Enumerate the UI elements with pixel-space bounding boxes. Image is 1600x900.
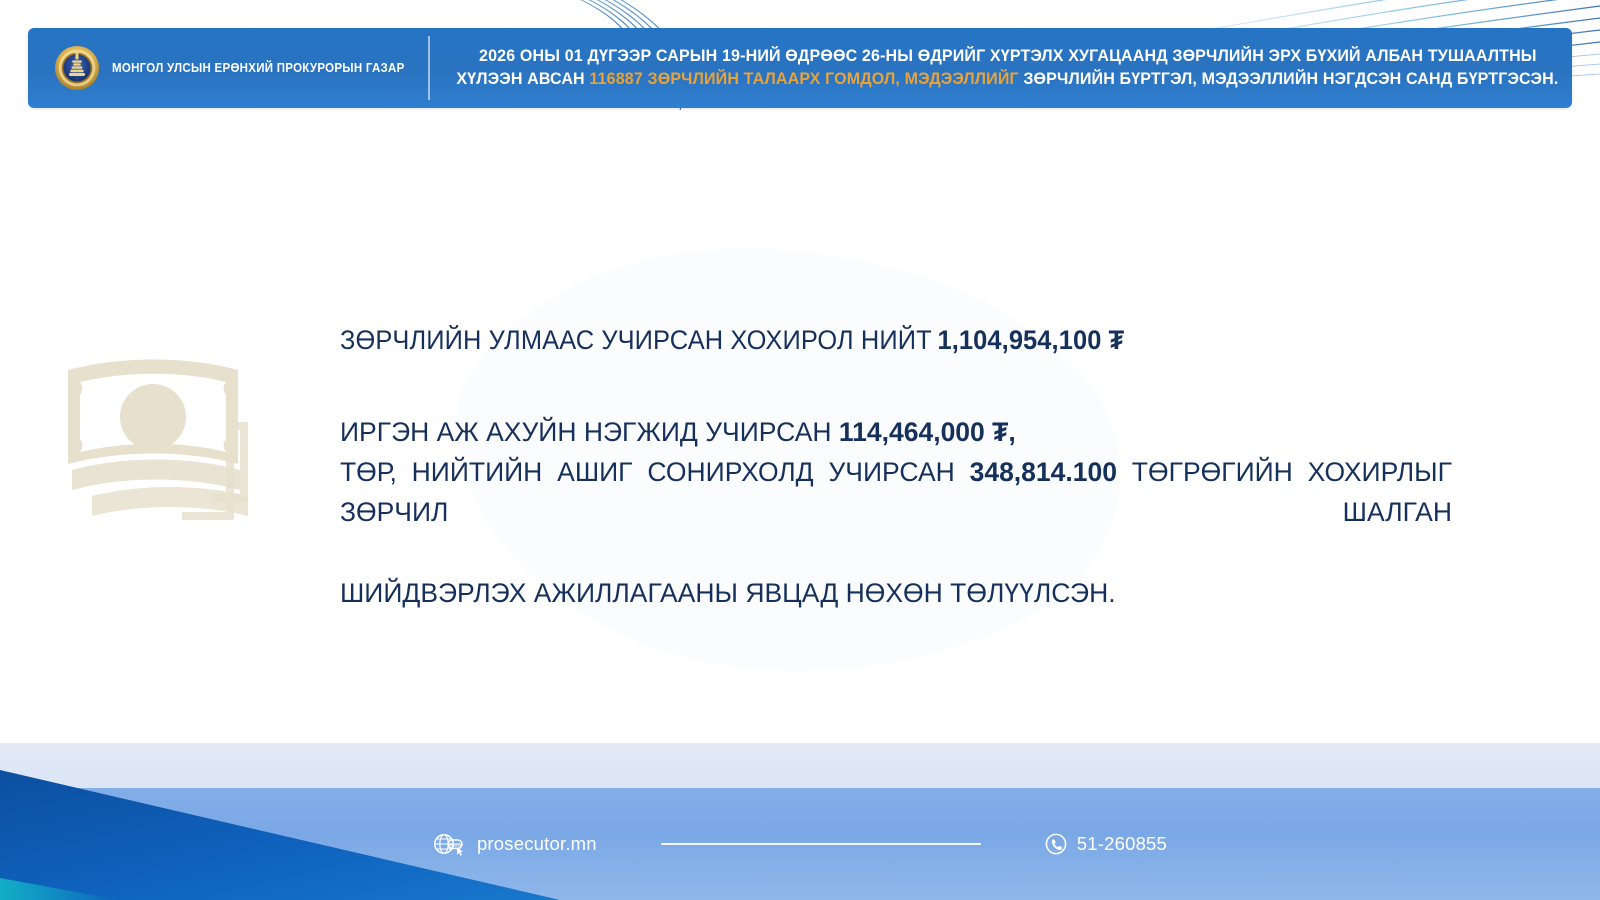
damage-breakdown-paragraph: ИРГЭН АЖ АХУЙН НЭГЖИД УЧИРСАН 114,464,00…	[340, 412, 1452, 613]
footer-website-label: prosecutor.mn	[477, 833, 597, 855]
headline-line-2-pre: ХҮЛЭЭН АВСАН	[456, 70, 589, 88]
main-content: ЗӨРЧЛИЙН УЛМААС УЧИРСАН ХОХИРОЛ НИЙТ1,10…	[340, 322, 1452, 613]
svg-text:www: www	[447, 842, 463, 848]
breakdown-line-1: ИРГЭН АЖ АХУЙН НЭГЖИД УЧИРСАН 114,464,00…	[340, 412, 1452, 452]
public-interest-label: ТӨР, НИЙТИЙН АШИГ СОНИРХОЛД УЧИРСАН	[340, 457, 970, 487]
headline-line-2-post: ЗӨРЧЛИЙН БҮРТГЭЛ, МЭДЭЭЛЛИЙН НЭГДСЭН САН…	[1019, 70, 1559, 88]
header-bar: МОНГОЛ УЛСЫН ЕРӨНХИЙ ПРОКУРОРЫН ГАЗАР 20…	[28, 28, 1572, 108]
header-headline: 2026 ОНЫ 01 ДҮГЭЭР САРЫН 19-НИЙ ӨДРӨӨС 2…	[430, 28, 1581, 108]
footer-website[interactable]: www prosecutor.mn	[433, 831, 597, 857]
total-damage-line: ЗӨРЧЛИЙН УЛМААС УЧИРСАН ХОХИРОЛ НИЙТ1,10…	[340, 322, 1408, 360]
citizens-entities-label: ИРГЭН АЖ АХУЙН НЭГЖИД УЧИРСАН	[340, 417, 839, 447]
footer-divider	[661, 843, 981, 845]
phone-circle-icon	[1045, 833, 1067, 855]
globe-www-cursor-icon: www	[433, 831, 467, 857]
headline-accent-count: 116887 ЗӨРЧЛИЙН ТАЛААРХ ГОМДОЛ, МЭДЭЭЛЛИ…	[589, 70, 1018, 88]
footer-phone-label: 51-260855	[1077, 833, 1167, 855]
citizens-entities-amount: 114,464,000 ₮,	[839, 417, 1016, 447]
footer: www prosecutor.mn 51-260855	[0, 788, 1600, 900]
banknote-stack-icon	[62, 352, 302, 532]
public-interest-amount: 348,814.100	[970, 457, 1117, 487]
header-brand: МОНГОЛ УЛСЫН ЕРӨНХИЙ ПРОКУРОРЫН ГАЗАР	[28, 28, 430, 108]
footer-phone[interactable]: 51-260855	[1045, 833, 1167, 855]
headline-line-2: ХҮЛЭЭН АВСАН 116887 ЗӨРЧЛИЙН ТАЛААРХ ГОМ…	[456, 68, 1558, 91]
brand-title: МОНГОЛ УЛСЫН ЕРӨНХИЙ ПРОКУРОРЫН ГАЗАР	[112, 61, 405, 75]
mongolia-state-emblem-icon	[54, 45, 100, 91]
total-damage-label: ЗӨРЧЛИЙН УЛМААС УЧИРСАН ХОХИРОЛ НИЙТ	[340, 325, 932, 355]
slide-root: МОНГОЛ УЛСЫН ЕРӨНХИЙ ПРОКУРОРЫН ГАЗАР 20…	[0, 0, 1600, 900]
breakdown-line-3: ШИЙДВЭРЛЭХ АЖИЛЛАГААНЫ ЯВЦАД НӨХӨН ТӨЛҮҮ…	[340, 573, 1452, 613]
headline-line-1: 2026 ОНЫ 01 ДҮГЭЭР САРЫН 19-НИЙ ӨДРӨӨС 2…	[479, 45, 1537, 68]
breakdown-line-2: ТӨР, НИЙТИЙН АШИГ СОНИРХОЛД УЧИРСАН 348,…	[340, 452, 1452, 573]
total-damage-amount: 1,104,954,100 ₮	[938, 325, 1125, 355]
